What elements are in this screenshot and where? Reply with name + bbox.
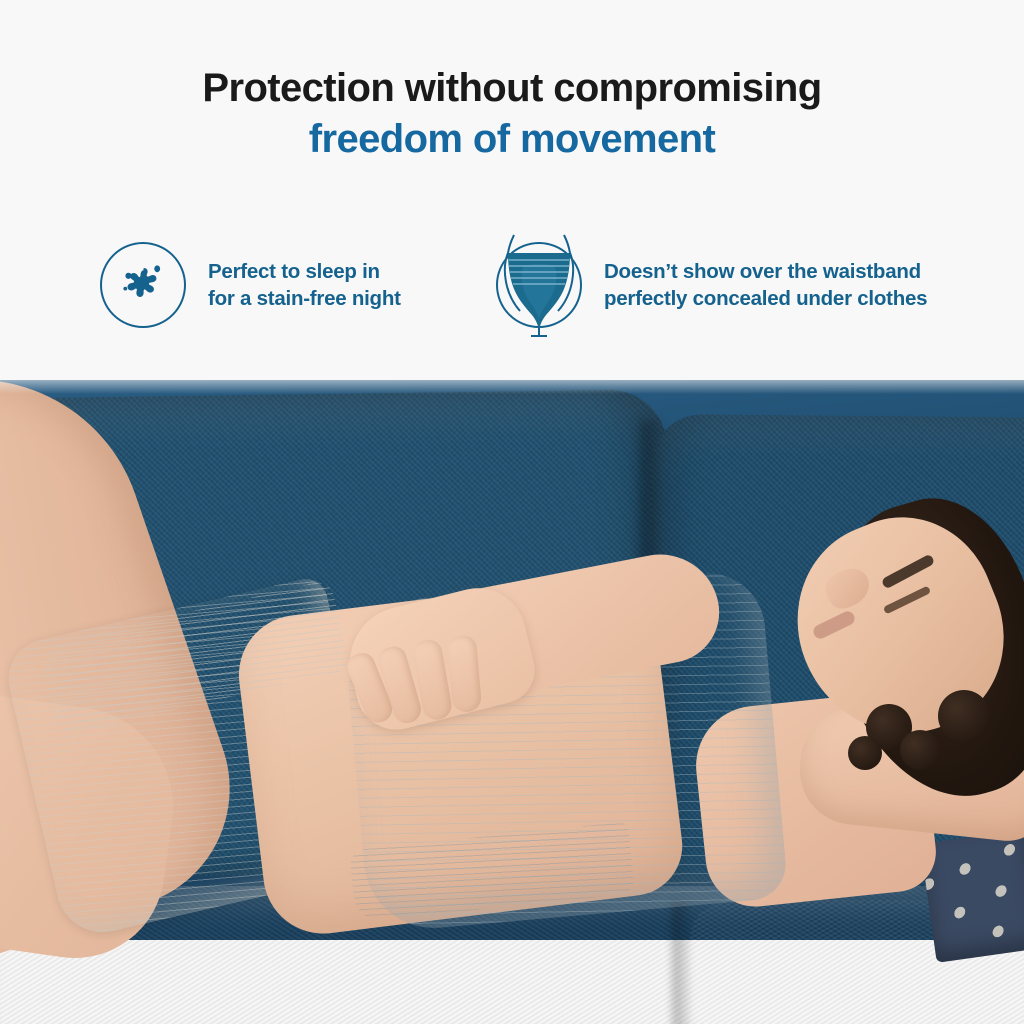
headline-line-1: Protection without compromising <box>0 66 1024 111</box>
feature-text-line-2: perfectly concealed under clothes <box>604 285 927 312</box>
headline-line-2: freedom of movement <box>0 117 1024 162</box>
splash-icon <box>100 242 186 328</box>
feature-text-line-1: Perfect to sleep in <box>208 258 401 285</box>
product-feature-banner: Protection without compromising freedom … <box>0 0 1024 1024</box>
person-hair-curl <box>848 736 882 770</box>
feature-list: Perfect to sleep in for a stain-free nig… <box>0 236 1024 356</box>
underwear-icon <box>496 242 582 328</box>
feature-text-line-2: for a stain-free night <box>208 285 401 312</box>
headline-block: Protection without compromising freedom … <box>0 0 1024 200</box>
feature-item-sleep: Perfect to sleep in for a stain-free nig… <box>100 242 401 328</box>
sofa-seat-seam <box>672 900 690 1024</box>
person-hair-curl <box>938 690 990 742</box>
person-hair-curl <box>900 730 940 770</box>
feature-text-sleep: Perfect to sleep in for a stain-free nig… <box>208 258 401 313</box>
feature-text-line-1: Doesn’t show over the waistband <box>604 258 927 285</box>
feature-text-discreet: Doesn’t show over the waistband perfectl… <box>604 258 927 313</box>
feature-item-discreet: Doesn’t show over the waistband perfectl… <box>496 242 927 328</box>
